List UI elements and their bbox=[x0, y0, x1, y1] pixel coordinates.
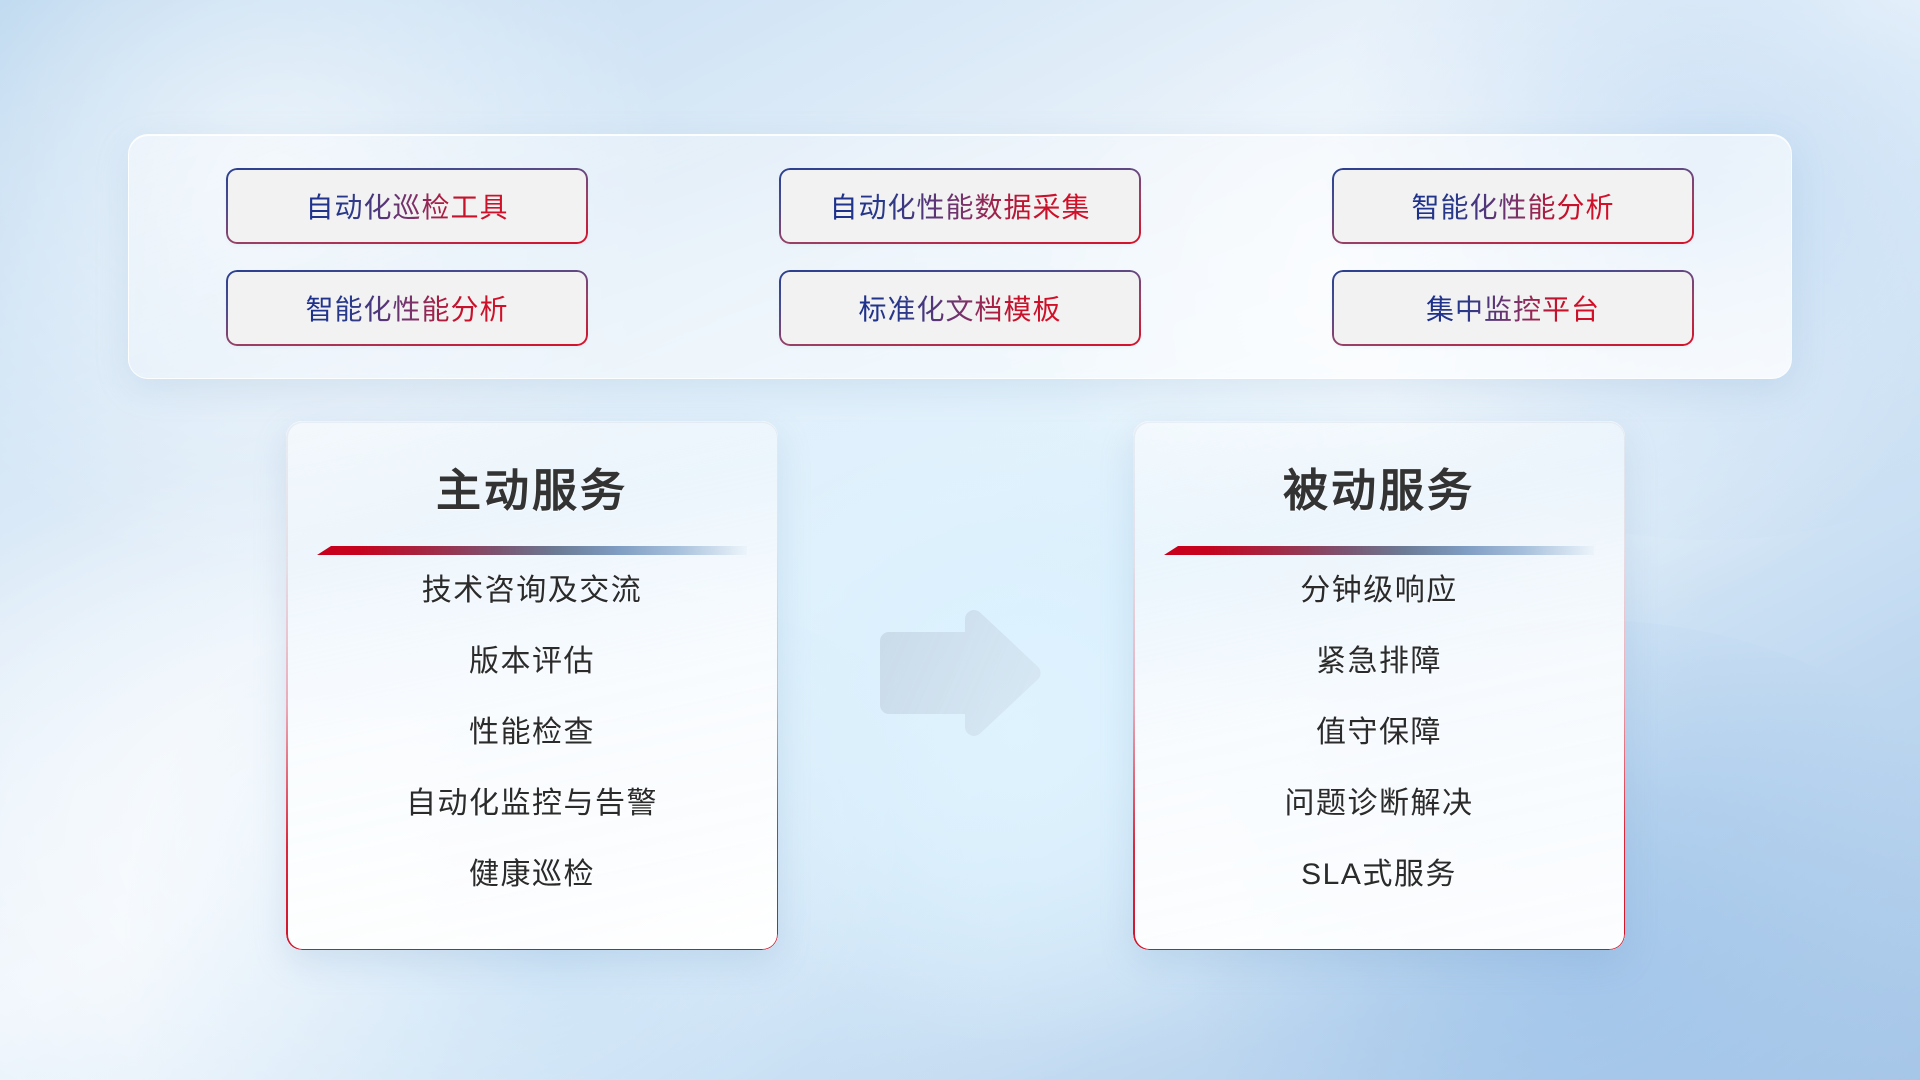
card-title: 被动服务 bbox=[1133, 454, 1625, 519]
list-item: 值守保障 bbox=[1316, 697, 1442, 768]
list-item: 技术咨询及交流 bbox=[422, 555, 643, 626]
list-item: 性能检查 bbox=[469, 697, 595, 768]
pill-label: 标准化文档模板 bbox=[858, 288, 1061, 328]
card-title: 主动服务 bbox=[286, 454, 778, 519]
pill-label: 集中监控平台 bbox=[1426, 288, 1600, 328]
list-item: SLA式服务 bbox=[1301, 840, 1457, 911]
service-item-list: 技术咨询及交流 版本评估 性能检查 自动化监控与告警 健康巡检 bbox=[286, 555, 778, 911]
pill-intelligent-performance-analysis-bottom[interactable]: 智能化性能分析 bbox=[228, 272, 586, 344]
service-card-active[interactable]: 主动服务 技术咨询及交流 版本评估 性能检查 自动化监控与告警 健康巡检 bbox=[286, 421, 778, 950]
service-item-list: 分钟级响应 紧急排障 值守保障 问题诊断解决 SLA式服务 bbox=[1133, 555, 1625, 911]
card-divider bbox=[1164, 546, 1594, 555]
right-arrow-icon bbox=[870, 603, 1050, 743]
capability-pill-panel: 自动化巡检工具 自动化性能数据采集 智能化性能分析 智能化性能分析 标准化文档模… bbox=[128, 134, 1792, 379]
list-item: 紧急排障 bbox=[1316, 626, 1442, 697]
list-item: 健康巡检 bbox=[469, 840, 595, 911]
card-divider bbox=[317, 546, 747, 555]
pill-label: 智能化性能分析 bbox=[1411, 186, 1614, 226]
pill-label: 自动化性能数据采集 bbox=[829, 186, 1090, 226]
pill-label: 自动化巡检工具 bbox=[305, 186, 508, 226]
pill-grid: 自动化巡检工具 自动化性能数据采集 智能化性能分析 智能化性能分析 标准化文档模… bbox=[228, 170, 1692, 344]
list-item: 分钟级响应 bbox=[1300, 555, 1458, 626]
service-card-passive[interactable]: 被动服务 分钟级响应 紧急排障 值守保障 问题诊断解决 SLA式服务 bbox=[1133, 421, 1625, 950]
pill-label: 智能化性能分析 bbox=[305, 288, 508, 328]
list-item: 自动化监控与告警 bbox=[406, 769, 658, 840]
diagram-canvas: 自动化巡检工具 自动化性能数据采集 智能化性能分析 智能化性能分析 标准化文档模… bbox=[0, 0, 1920, 1080]
pill-standardized-document-template[interactable]: 标准化文档模板 bbox=[781, 272, 1139, 344]
pill-automated-performance-data-collection[interactable]: 自动化性能数据采集 bbox=[781, 170, 1139, 242]
pill-centralized-monitoring-platform[interactable]: 集中监控平台 bbox=[1334, 272, 1692, 344]
pill-automated-inspection-tool[interactable]: 自动化巡检工具 bbox=[228, 170, 586, 242]
list-item: 版本评估 bbox=[469, 626, 595, 697]
pill-intelligent-performance-analysis-top[interactable]: 智能化性能分析 bbox=[1334, 170, 1692, 242]
list-item: 问题诊断解决 bbox=[1285, 769, 1474, 840]
